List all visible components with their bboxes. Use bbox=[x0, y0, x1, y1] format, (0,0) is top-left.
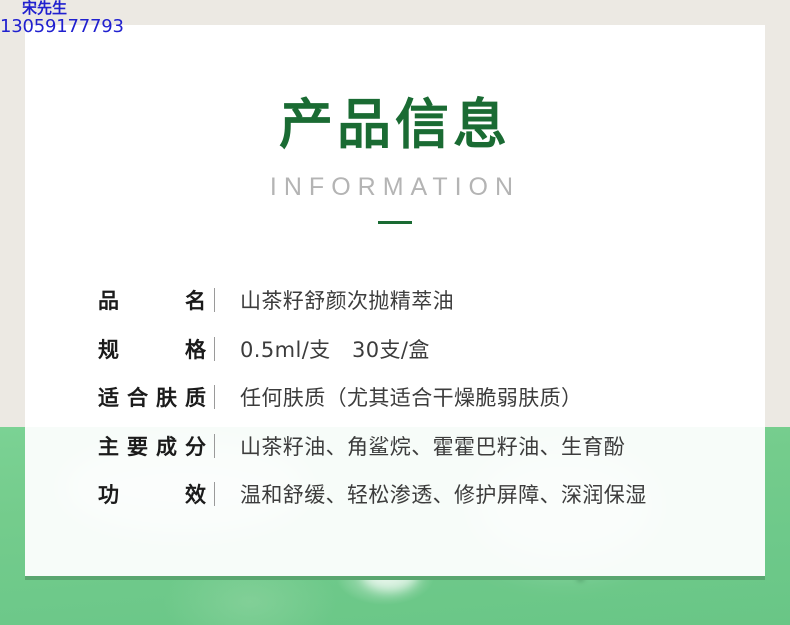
table-row: 功效 温和舒缓、轻松渗透、修护屏障、深润保湿 bbox=[98, 470, 738, 519]
table-row: 适合肤质 任何肤质（尤其适合干燥脆弱肤质） bbox=[98, 373, 738, 422]
page-subtitle: INFORMATION bbox=[25, 173, 765, 201]
table-row: 品名 山茶籽舒颜次抛精萃油 bbox=[98, 276, 738, 325]
watermark-phone: 13059177793 bbox=[0, 17, 200, 37]
product-information-page: 产品信息 INFORMATION 品名 山茶籽舒颜次抛精萃油 规格 0.5ml/… bbox=[0, 0, 790, 625]
row-label-efficacy: 功效 bbox=[98, 479, 206, 509]
table-row: 主要成分 山茶籽油、角鲨烷、霍霍巴籽油、生育酚 bbox=[98, 422, 738, 471]
row-label-suitable-skin: 适合肤质 bbox=[98, 382, 206, 412]
row-divider bbox=[206, 385, 223, 409]
heading-block: 产品信息 INFORMATION bbox=[25, 95, 765, 224]
row-divider bbox=[206, 482, 223, 506]
row-label-product-name: 品名 bbox=[98, 285, 206, 315]
row-divider bbox=[206, 288, 223, 312]
row-value-suitable-skin: 任何肤质（尤其适合干燥脆弱肤质） bbox=[223, 382, 738, 412]
row-label-main-ingredients: 主要成分 bbox=[98, 431, 206, 461]
product-info-table: 品名 山茶籽舒颜次抛精萃油 规格 0.5ml/支 30支/盒 适合肤质 任何肤质… bbox=[98, 276, 738, 519]
watermark-name: 宋先生 bbox=[22, 0, 200, 17]
row-value-product-name: 山茶籽舒颜次抛精萃油 bbox=[223, 285, 738, 315]
row-divider bbox=[206, 434, 223, 458]
title-divider bbox=[378, 221, 412, 224]
table-row: 规格 0.5ml/支 30支/盒 bbox=[98, 325, 738, 374]
row-value-efficacy: 温和舒缓、轻松渗透、修护屏障、深润保湿 bbox=[223, 479, 738, 509]
card-bottom-rule bbox=[25, 576, 765, 580]
seller-watermark: 宋先生 13059177793 bbox=[0, 0, 200, 37]
row-value-main-ingredients: 山茶籽油、角鲨烷、霍霍巴籽油、生育酚 bbox=[223, 431, 738, 461]
page-title: 产品信息 bbox=[25, 95, 765, 155]
row-divider bbox=[206, 337, 223, 361]
row-value-specification: 0.5ml/支 30支/盒 bbox=[223, 334, 738, 364]
row-label-specification: 规格 bbox=[98, 334, 206, 364]
